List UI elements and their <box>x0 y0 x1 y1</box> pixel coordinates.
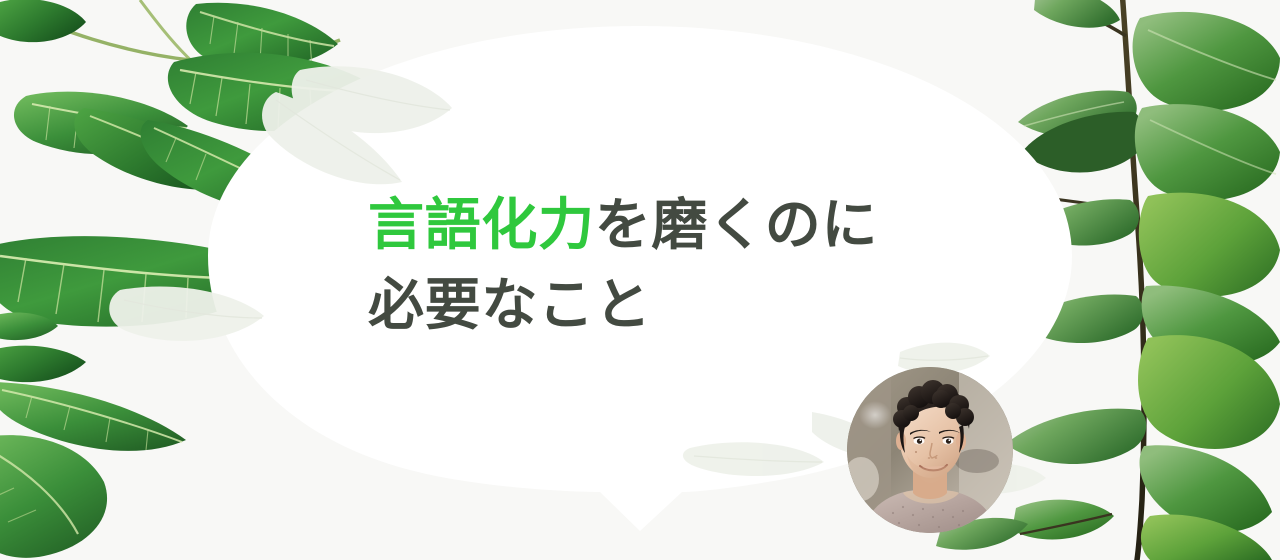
leaf <box>1138 335 1280 449</box>
leaf <box>1018 90 1137 137</box>
leaf <box>74 108 252 190</box>
leaf <box>0 382 186 451</box>
leaf <box>1022 112 1144 173</box>
leaf <box>1139 193 1280 297</box>
leaf <box>1133 12 1280 111</box>
leaf <box>1142 286 1280 365</box>
leaf <box>1141 515 1272 560</box>
leaf <box>1006 409 1146 464</box>
avatar-photo <box>847 367 1013 533</box>
page-title: 言語化力を磨くのに 必要なこと <box>368 186 988 345</box>
leaf <box>1034 0 1120 28</box>
leaf <box>141 120 336 215</box>
leaf <box>0 435 107 558</box>
leaf <box>14 92 188 155</box>
leaf <box>186 3 338 68</box>
title-line-1-rest: を磨くのに <box>595 193 878 258</box>
hero-banner: 言語化力を磨くのに 必要なこと <box>0 0 1280 560</box>
title-line-2: 必要なこと <box>368 266 988 346</box>
leaf <box>1026 199 1139 245</box>
title-line-1: 言語化力を磨くのに <box>368 186 988 266</box>
leaf <box>0 236 290 326</box>
leaf <box>1140 445 1272 532</box>
leaf <box>0 0 86 42</box>
title-accent-phrase: 言語化力 <box>368 193 595 258</box>
leaf <box>0 312 58 340</box>
avatar <box>847 367 1013 533</box>
leaf <box>1135 104 1280 200</box>
leaf <box>0 346 86 383</box>
leaf <box>168 53 378 131</box>
leaf-cluster-left <box>0 0 378 558</box>
leaf <box>1020 294 1143 343</box>
